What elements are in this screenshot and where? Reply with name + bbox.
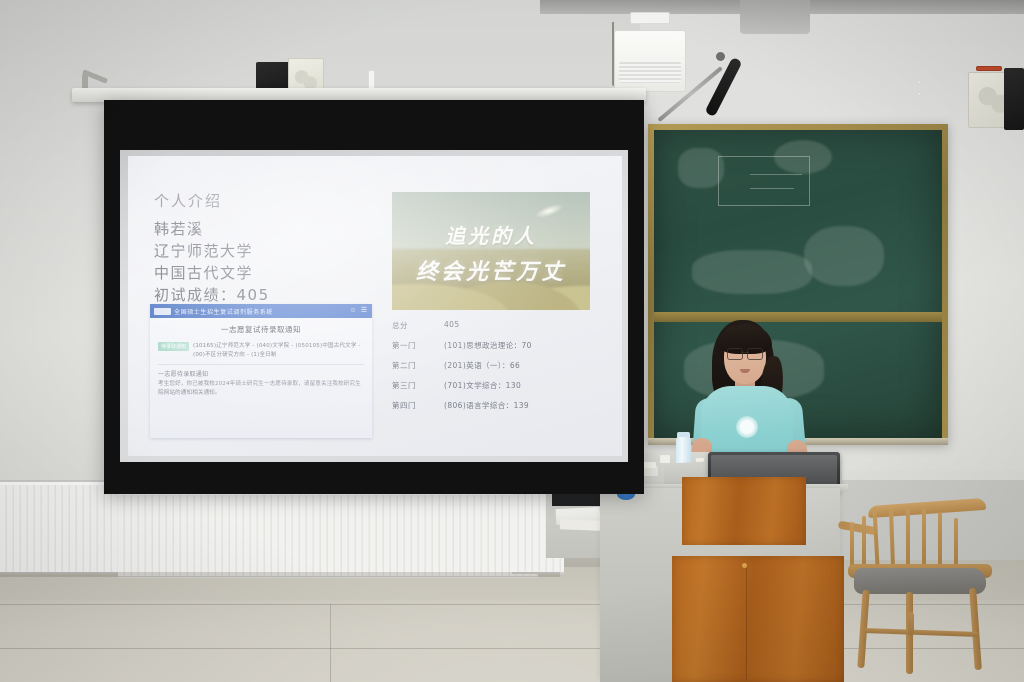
score-label: 第二门: [392, 360, 444, 371]
chair-top-rail: [868, 498, 987, 518]
glasses-bridge: [741, 352, 749, 353]
paper-stack: [560, 519, 600, 530]
chair-spindle: [850, 522, 854, 568]
radiator-shadow: [0, 572, 560, 577]
calligraphy-line-1: 追光的人: [392, 220, 590, 249]
person-icon[interactable]: ☺: [349, 307, 357, 315]
admission-system-card: 全国硕士生招生复试调剂服务系统 ☺ ☰ 一志愿复试待录取通知 待录取通知 (10…: [150, 304, 372, 438]
shirt-graphic: [736, 416, 758, 438]
microphone-joint: [716, 52, 725, 61]
wall-screw: [917, 92, 921, 96]
score-value: 405: [444, 320, 460, 331]
ceiling-fixture: [740, 0, 810, 34]
chalk-smudge: [692, 250, 812, 294]
power-cable: [612, 22, 614, 86]
wall-switch-plate: [368, 70, 375, 90]
slide-line-major: 中国古代文学: [154, 262, 253, 283]
score-row: 第四门 (806)语言学综合：139: [392, 400, 602, 411]
podium-lock: [742, 563, 747, 568]
notice-subheading: 一志愿待录取通知: [158, 369, 364, 378]
score-row: 第二门 (201)英语（一）：66: [392, 360, 602, 371]
presentation-slide: 个人介绍 韩若溪 辽宁师范大学 中国古代文学 初试成绩：405 追光的人 终会光…: [128, 156, 622, 456]
air-vent: [619, 62, 681, 82]
system-logo-icon: [154, 308, 171, 315]
floor-seam: [330, 604, 331, 682]
wall-radiator: [118, 492, 538, 578]
score-label: 总分: [392, 320, 444, 331]
speaker-indicator: [976, 66, 1002, 71]
podium-door-seam: [746, 568, 747, 680]
slide-line-name: 韩若溪: [154, 218, 204, 239]
divider: [158, 364, 364, 365]
notice-paragraph: 考生您好，你已被我校2024年硕士研究生一志愿待录取，请留意关注我校研究生院网站…: [158, 380, 364, 398]
desk-item: [660, 455, 670, 463]
score-label: 第一门: [392, 340, 444, 351]
score-row-total: 总分 405: [392, 320, 602, 331]
system-title-bar: 全国硕士生招生复试调剂服务系统 ☺ ☰: [150, 304, 372, 318]
eyeglasses: [727, 348, 763, 359]
chair-cushion: [854, 568, 986, 594]
system-card-body: 一志愿复试待录取通知 待录取通知 (10165)辽宁师范大学 - (040)文学…: [150, 318, 372, 398]
chair-stretcher: [908, 612, 914, 636]
chair-leg: [969, 588, 982, 670]
desk-item: [642, 462, 656, 468]
system-title: 全国硕士生招生复试调剂服务系统: [174, 307, 346, 316]
chalk-smudge: [678, 148, 724, 188]
score-label: 第三门: [392, 380, 444, 391]
status-badge: 待录取通知: [158, 342, 189, 351]
slide-section-title: 个人介绍: [154, 190, 222, 211]
slide-photo-card: 追光的人 终会光芒万丈: [392, 192, 590, 310]
chair-spindle: [922, 508, 926, 568]
score-row: 第三门 (701)文学综合：130: [392, 380, 602, 391]
chair-spindle: [906, 508, 910, 570]
score-row: 第一门 (101)思想政治理论：70: [392, 340, 602, 351]
notice-heading: 一志愿复试待录取通知: [158, 324, 364, 335]
wall-outlet-plate: [630, 12, 670, 24]
sun-flare: [533, 201, 565, 221]
chair-spindle: [938, 512, 942, 568]
score-value: (806)语言学综合：139: [444, 400, 529, 411]
program-detail: (10165)辽宁师范大学 - (040)文学院 - (050105)中国古代文…: [193, 342, 364, 359]
chalk-smudge: [774, 140, 832, 174]
score-value: (201)英语（一）：66: [444, 360, 520, 371]
chalk-mark: [750, 174, 802, 175]
chair-stretcher: [864, 628, 978, 637]
podium-wood-panel-upper: [682, 477, 806, 545]
chair-spindle: [954, 518, 958, 566]
podium-wood-panel-lower: [672, 556, 844, 682]
wall-screw: [917, 80, 921, 84]
slide-line-university: 辽宁师范大学: [154, 240, 253, 261]
score-table: 总分 405 第一门 (101)思想政治理论：70 第二门 (201)英语（一）…: [392, 320, 602, 420]
classroom-scene: 个人介绍 韩若溪 辽宁师范大学 中国古代文学 初试成绩：405 追光的人 终会光…: [0, 0, 1024, 682]
chalk-smudge: [804, 226, 884, 286]
slide-line-score: 初试成绩：405: [154, 284, 270, 305]
chair-spindle: [862, 516, 866, 568]
hamburger-menu-icon[interactable]: ☰: [360, 307, 368, 315]
wooden-chair: [846, 502, 1018, 682]
notice-detail-row: 待录取通知 (10165)辽宁师范大学 - (040)文学院 - (050105…: [158, 342, 364, 359]
wall-bracket: [1004, 68, 1024, 130]
score-value: (701)文学综合：130: [444, 380, 521, 391]
chair-spindle: [889, 508, 895, 568]
calligraphy-line-2: 终会光芒万丈: [392, 254, 590, 286]
score-value: (101)思想政治理论：70: [444, 340, 532, 351]
wall-air-unit: [614, 30, 686, 92]
chalk-mark: [750, 188, 794, 189]
score-label: 第四门: [392, 400, 444, 411]
